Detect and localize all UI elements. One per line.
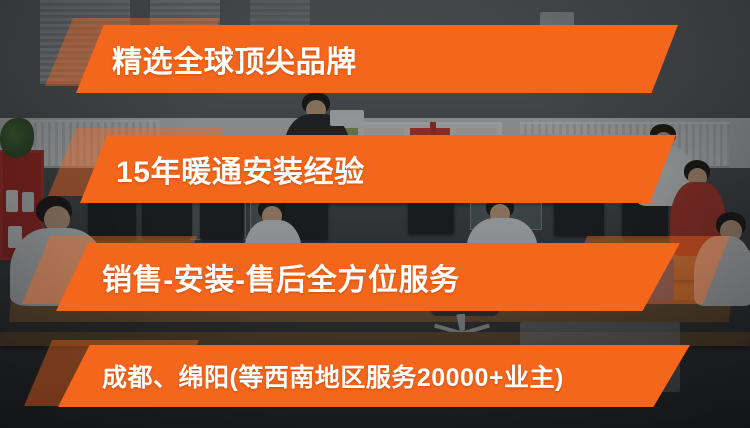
headline-band-1: 精选全球顶尖品牌 bbox=[76, 25, 678, 93]
headline-band-2-text: 15年暖通安装经验 bbox=[116, 147, 365, 191]
headline-band-4: 成都、绵阳(等西南地区服务20000+业主) bbox=[58, 345, 690, 407]
headline-band-2: 15年暖通安装经验 bbox=[80, 135, 676, 203]
headline-band-3-text: 销售-安装-售后全方位服务 bbox=[102, 255, 460, 299]
headline-band-1-text: 精选全球顶尖品牌 bbox=[112, 37, 357, 81]
banner-canvas: 精选全球顶尖品牌 15年暖通安装经验 销售-安装-售后全方位服务 成都、绵阳(等… bbox=[0, 0, 750, 428]
headline-band-3: 销售-安装-售后全方位服务 bbox=[56, 243, 680, 311]
headline-band-4-text: 成都、绵阳(等西南地区服务20000+业主) bbox=[102, 358, 564, 394]
